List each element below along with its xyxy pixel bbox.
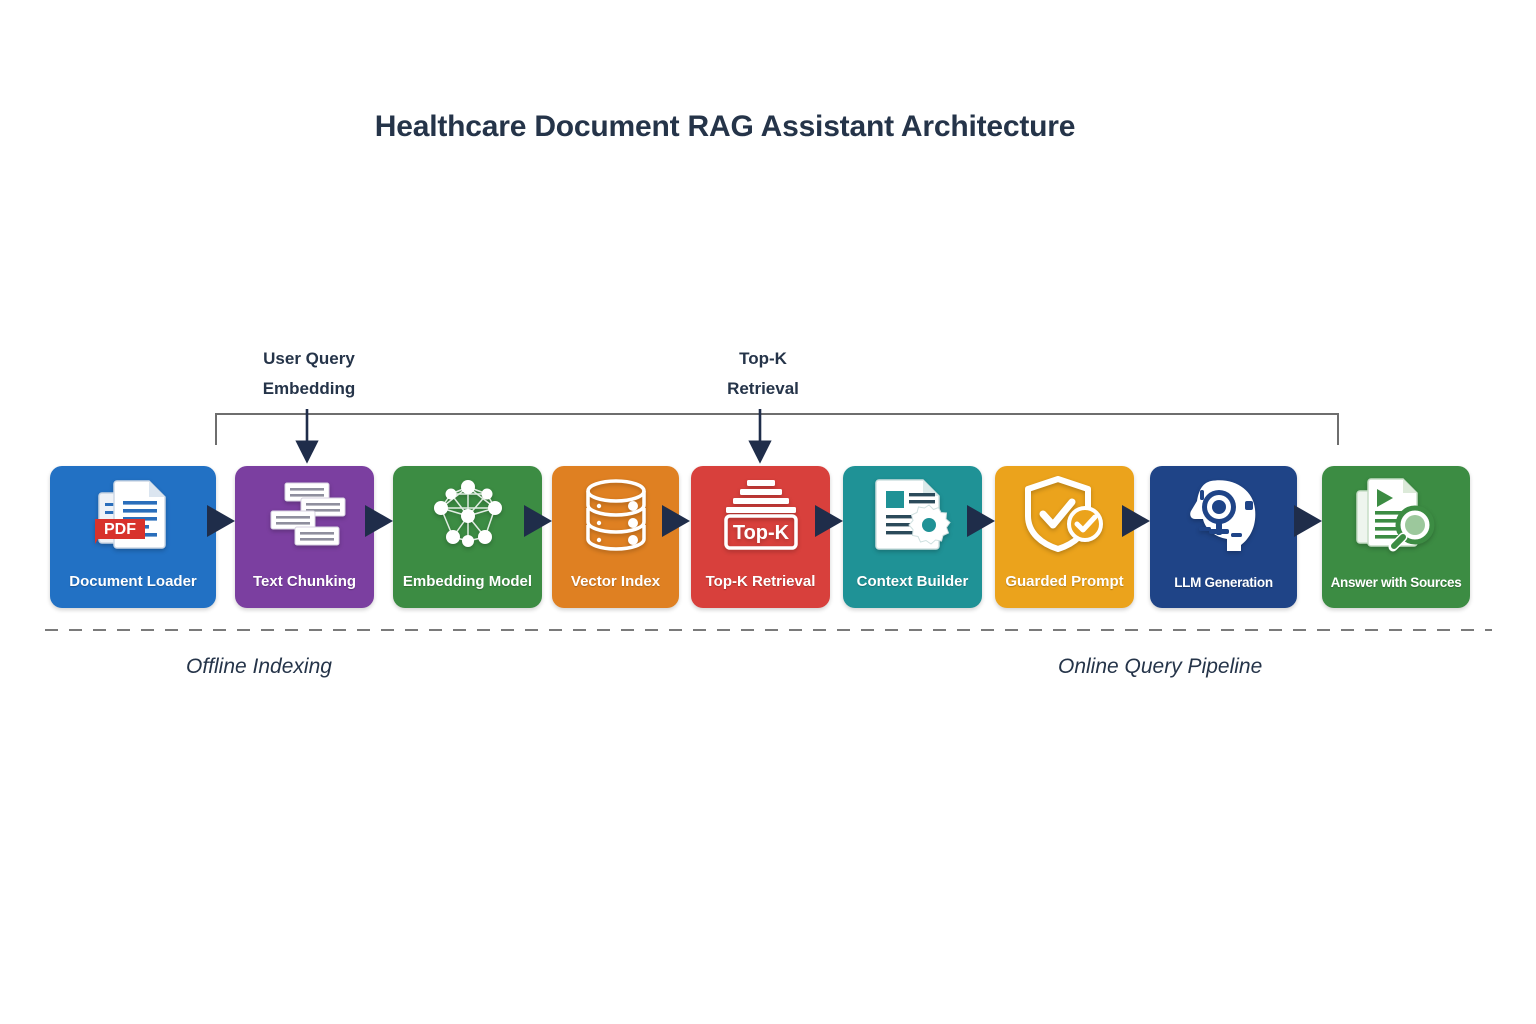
neural-network-icon (393, 472, 542, 558)
node-label: Guarded Prompt (997, 573, 1132, 590)
node-vector-index[interactable]: Vector Index (552, 466, 679, 608)
robot-head-icon (1150, 472, 1297, 558)
node-label: Document Loader (52, 573, 214, 590)
annotation-line-1: Top-K (684, 344, 842, 374)
node-label: LLM Generation (1152, 575, 1295, 590)
document-gear-icon (843, 472, 982, 558)
node-label: Answer with Sources (1324, 575, 1468, 590)
node-topk-retrieval[interactable]: Top-K Top-K Retrieval (691, 466, 830, 608)
phase-label-text: Online Query Pipeline (1058, 655, 1262, 678)
node-context-builder[interactable]: Context Builder (843, 466, 982, 608)
node-label: Top-K Retrieval (693, 573, 828, 590)
text-chunks-icon (235, 472, 374, 558)
pipeline-row: PDF Document Loader (50, 466, 1486, 608)
node-embedding-model[interactable]: Embedding Model (393, 466, 542, 608)
node-text-chunking[interactable]: Text Chunking (235, 466, 374, 608)
node-label: Context Builder (845, 573, 980, 590)
phase-label-offline-indexing: Offline Indexing (186, 655, 332, 679)
node-document-loader[interactable]: PDF Document Loader (50, 466, 216, 608)
annotation-topk-retrieval: Top-K Retrieval (684, 344, 842, 404)
diagram-canvas: Healthcare Document RAG Assistant Archit… (0, 0, 1536, 1024)
topk-stack-icon: Top-K (691, 472, 830, 558)
feedback-rail-line (216, 414, 1338, 445)
database-icon (552, 472, 679, 558)
node-label: Text Chunking (237, 573, 372, 590)
svg-text:PDF: PDF (104, 521, 136, 538)
node-answer-with-sources[interactable]: Answer with Sources (1322, 466, 1470, 608)
document-search-icon (1322, 472, 1470, 558)
annotation-line-1: User Query (230, 344, 388, 374)
node-guarded-prompt[interactable]: Guarded Prompt (995, 466, 1134, 608)
annotation-user-query-embedding: User Query Embedding (230, 344, 388, 404)
annotation-line-2: Embedding (230, 374, 388, 404)
node-llm-generation[interactable]: LLM Generation (1150, 466, 1297, 608)
node-label: Embedding Model (395, 573, 540, 590)
phase-label-online-query-pipeline: Online Query Pipeline (1058, 655, 1262, 679)
node-label: Vector Index (554, 573, 677, 590)
annotation-line-2: Retrieval (684, 374, 842, 404)
phase-label-text: Offline Indexing (186, 655, 332, 678)
shield-check-icon (995, 472, 1134, 558)
svg-text:Top-K: Top-K (732, 522, 789, 544)
page-title: Healthcare Document RAG Assistant Archit… (0, 110, 1450, 144)
pdf-document-icon: PDF (50, 472, 216, 558)
